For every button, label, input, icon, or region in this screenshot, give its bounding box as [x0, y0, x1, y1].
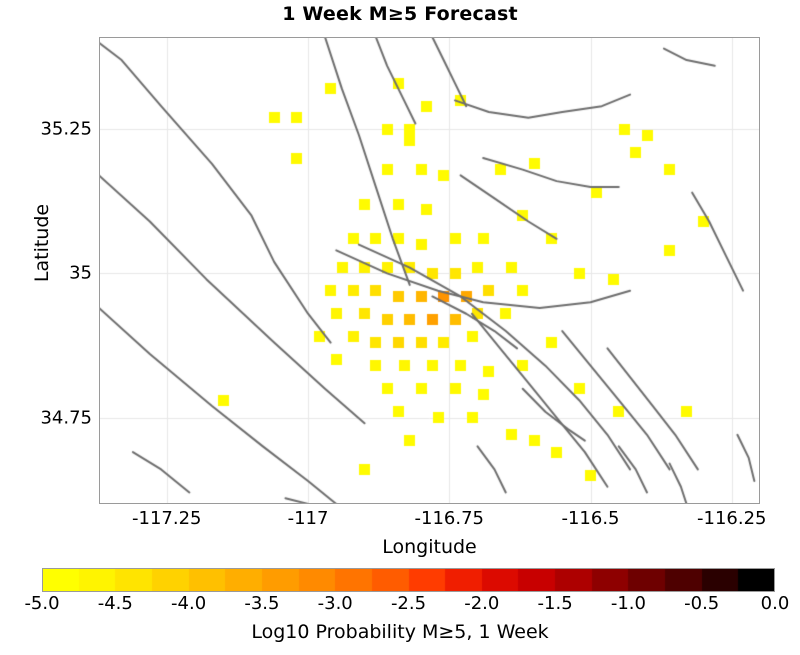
- x-tick-label: -116.5: [536, 508, 646, 529]
- y-tick-label: 35: [12, 263, 92, 284]
- probability-heatmap-canvas: [99, 37, 760, 504]
- x-tick-label: -116.25: [677, 508, 787, 529]
- x-tick-label: -116.75: [394, 508, 504, 529]
- y-tick-label: 34.75: [12, 407, 92, 428]
- y-tick-label: 35.25: [12, 119, 92, 140]
- figure-title: 1 Week M≥5 Forecast: [0, 3, 800, 25]
- colorbar-ticks: -5.0-4.5-4.0-3.5-3.0-2.5-2.0-1.5-1.0-0.5…: [42, 593, 775, 619]
- colorbar-gradient-canvas: [42, 568, 775, 592]
- colorbar: [42, 568, 775, 592]
- x-tick-label: -117.25: [112, 508, 222, 529]
- colorbar-label: Log10 Probability M≥5, 1 Week: [0, 621, 800, 643]
- colorbar-tick-label: 0.0: [730, 593, 800, 614]
- y-axis-ticks: 35.253534.75: [8, 37, 92, 504]
- map-plot-area: [99, 37, 760, 504]
- forecast-figure: 1 Week M≥5 Forecast Latitude 35.253534.7…: [0, 0, 800, 655]
- x-axis-label: Longitude: [99, 536, 760, 558]
- x-axis-ticks: -117.25-117-116.75-116.5-116.25: [99, 508, 760, 534]
- x-tick-label: -117: [253, 508, 363, 529]
